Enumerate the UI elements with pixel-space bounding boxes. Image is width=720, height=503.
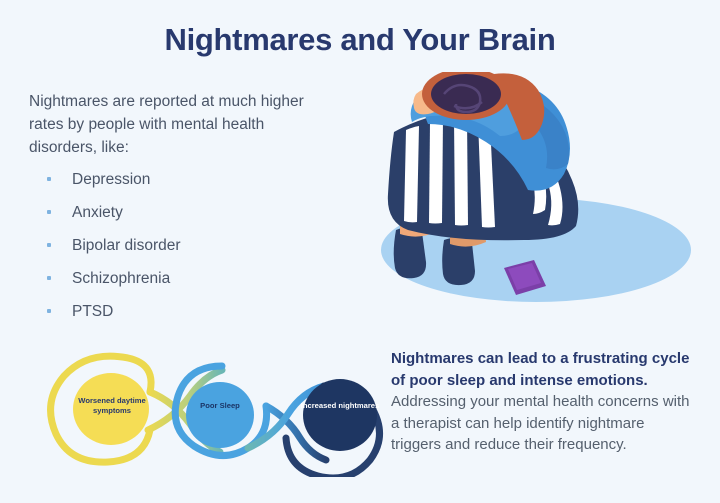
list-item-label: PTSD xyxy=(72,303,113,320)
page-title: Nightmares and Your Brain xyxy=(0,22,720,58)
intro-paragraph: Nightmares are reported at much higher r… xyxy=(29,90,329,159)
infographic-canvas: Nightmares and Your Brain Nightmares are… xyxy=(0,0,720,503)
list-item-label: Bipolar disorder xyxy=(72,237,181,254)
bullet-icon xyxy=(47,210,51,214)
list-item: Depression xyxy=(44,170,334,189)
person-hugging-knees-illustration xyxy=(358,72,698,312)
summary-lead: Nightmares can lead to a frustrating cyc… xyxy=(391,350,689,389)
list-item: PTSD xyxy=(44,302,334,321)
list-item-label: Depression xyxy=(72,171,150,188)
bullet-icon xyxy=(47,177,51,181)
list-item: Anxiety xyxy=(44,203,334,222)
list-item: Bipolar disorder xyxy=(44,236,334,255)
list-item-label: Schizophrenia xyxy=(72,270,170,287)
cycle-node-increased xyxy=(303,379,377,451)
list-item-label: Anxiety xyxy=(72,204,123,221)
nightmare-cycle-diagram: Worsened daytime symptoms Poor Sleep Inc… xyxy=(22,352,387,477)
disorder-list: Depression Anxiety Bipolar disorder Schi… xyxy=(44,170,334,335)
bullet-icon xyxy=(47,243,51,247)
summary-paragraph: Nightmares can lead to a frustrating cyc… xyxy=(391,348,696,456)
summary-rest: Addressing your mental health concerns w… xyxy=(391,393,690,453)
cycle-node-poor-sleep xyxy=(186,382,254,448)
cycle-node-worsened xyxy=(73,373,149,445)
bullet-icon xyxy=(47,276,51,280)
list-item: Schizophrenia xyxy=(44,269,334,288)
bullet-icon xyxy=(47,309,51,313)
